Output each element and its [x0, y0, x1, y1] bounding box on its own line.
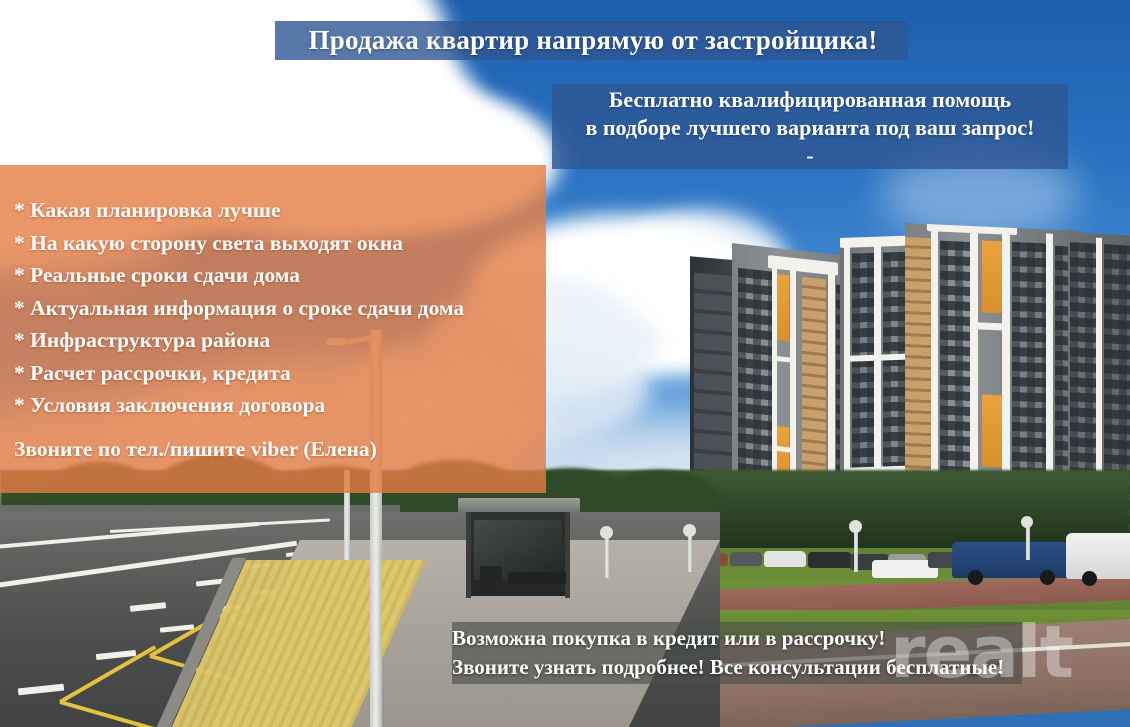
bottom-line-1: Возможна покупка в кредит или в рассрочк… [452, 624, 1076, 653]
bottom-line-2: Звоните узнать подробнее! Все консультац… [452, 653, 1076, 682]
parked-car [730, 552, 762, 566]
lamp-globe [1021, 516, 1033, 528]
list-item: * Реальные сроки сдачи дома [14, 259, 546, 292]
white-van [1066, 533, 1130, 579]
list-item: * Расчет рассрочки, кредита [14, 357, 546, 390]
accent-panel [982, 394, 1002, 467]
subtitle-line-2: в подборе лучшего варианта под ваш запро… [554, 114, 1066, 142]
wheel [1040, 570, 1055, 585]
parked-car [808, 552, 852, 568]
list-item: * На какую сторону света выходят окна [14, 227, 546, 260]
bench [508, 572, 566, 584]
subtitle-text: Бесплатно квалифицированная помощь в под… [554, 86, 1066, 142]
parked-car [764, 551, 806, 567]
benefits-list: * Какая планировка лучше * На какую стор… [14, 194, 546, 422]
list-item: * Инфраструктура района [14, 324, 546, 357]
wheel [1082, 571, 1097, 586]
accent-panel [776, 274, 789, 341]
subtitle-line-1: Бесплатно квалифицированная помощь [554, 86, 1066, 114]
lamp-globe [600, 526, 613, 539]
bottom-banner-text: Возможна покупка в кредит или в рассрочк… [452, 624, 1076, 682]
list-item: * Актуальная информация о сроке сдачи до… [14, 292, 546, 325]
accent-panel [982, 240, 1002, 313]
roof-cap [768, 255, 838, 276]
bus-shelter-post [466, 512, 471, 598]
wheel [968, 570, 983, 585]
contact-text: Звоните по тел./пишите viber (Елена) [14, 434, 546, 464]
bus-shelter-post [565, 512, 570, 598]
subtitle-dash: - [554, 145, 1066, 167]
list-item: * Какая планировка лучше [14, 194, 546, 227]
lamp-globe [683, 524, 696, 537]
advertisement-image: Продажа квартир напрямую от застройщика!… [0, 0, 1130, 727]
lamp-globe [849, 520, 862, 533]
trash-bin [480, 566, 502, 594]
list-item: * Условия заключения договора [14, 389, 546, 422]
headline-text: Продажа квартир напрямую от застройщика! [279, 24, 907, 57]
